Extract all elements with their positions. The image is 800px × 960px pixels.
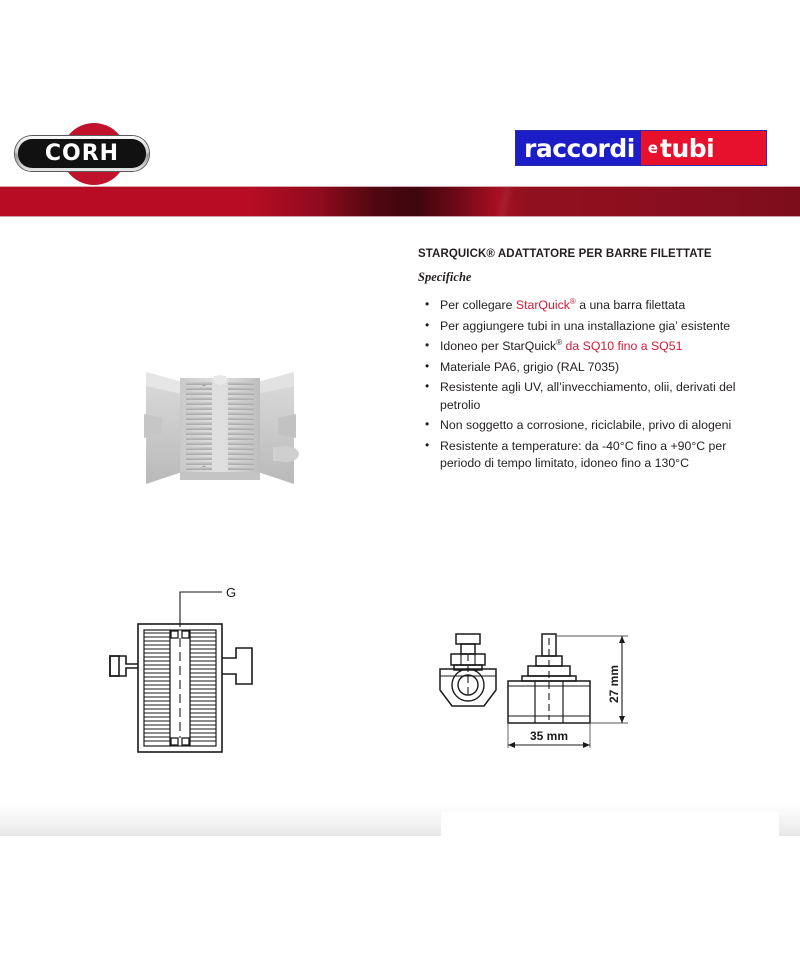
footer-base xyxy=(0,836,800,960)
badge-word-e: e xyxy=(646,141,660,156)
logo-text: CORH xyxy=(45,143,119,165)
spec-bullet: Non soggetto a corrosione, riciclabile, … xyxy=(438,417,738,435)
dimension-height-label: 27 mm xyxy=(607,665,621,703)
badge-blue-section: raccordi xyxy=(516,131,641,165)
badge-word-tubi: tubi xyxy=(660,136,714,161)
corh-logo[interactable]: CORH xyxy=(14,123,214,185)
badge-word-raccordi: raccordi xyxy=(524,136,635,161)
spec-bullet: Per collegare StarQuick® a una barra fil… xyxy=(438,297,738,315)
spec-bullet-text: Idoneo per StarQuick xyxy=(440,339,556,353)
spec-bullet-text: Resistente agli UV, all’invecchiamento, … xyxy=(440,380,736,412)
spec-bullet-text: Resistente a temperature: da -40°C fino … xyxy=(440,439,726,471)
badge-red-section: e tubi xyxy=(641,131,766,165)
drawing-label-g: G xyxy=(226,585,236,600)
spec-bullet: Resistente agli UV, all’invecchiamento, … xyxy=(438,379,738,414)
spec-bullet-text: Per aggiungere tubi in una installazione… xyxy=(440,319,730,333)
specifications-panel: STARQUICK® ADATTATORE PER BARRE FILETTAT… xyxy=(418,248,738,476)
spec-bullet: Resistente a temperature: da -40°C fino … xyxy=(438,438,738,473)
spec-bullet: Materiale PA6, grigio (RAL 7035) xyxy=(438,359,738,377)
specifications-list: Per collegare StarQuick® a una barra fil… xyxy=(418,297,738,473)
spec-bullet: Per aggiungere tubi in una installazione… xyxy=(438,318,738,336)
red-divider-banner xyxy=(0,186,800,217)
page-header: CORH raccordi e tubi xyxy=(0,118,800,188)
spec-bullet-text: da SQ10 fino a SQ51 xyxy=(562,339,682,353)
spec-bullet-text: Per collegare xyxy=(440,298,516,312)
spec-bullet: Idoneo per StarQuick® da SQ10 fino a SQ5… xyxy=(438,338,738,356)
spec-bullet-text: StarQuick xyxy=(516,298,570,312)
spec-bullet-text: a una barra filettata xyxy=(576,298,685,312)
product-photo xyxy=(130,348,310,498)
product-title: STARQUICK® ADATTATORE PER BARRE FILETTAT… xyxy=(418,248,738,260)
logo-plate-inner: CORH xyxy=(18,139,146,168)
spec-bullet-text: Non soggetto a corrosione, riciclabile, … xyxy=(440,418,731,432)
logo-plate: CORH xyxy=(15,136,149,171)
specifications-heading: Specifiche xyxy=(418,270,738,285)
raccordi-e-tubi-badge[interactable]: raccordi e tubi xyxy=(516,131,766,165)
spec-bullet-text: Materiale PA6, grigio (RAL 7035) xyxy=(440,360,619,374)
technical-drawing-dimensions: 27 mm 35 mm xyxy=(432,628,667,760)
technical-drawing-front-section: G xyxy=(100,572,310,762)
dimension-width-label: 35 mm xyxy=(530,729,568,743)
